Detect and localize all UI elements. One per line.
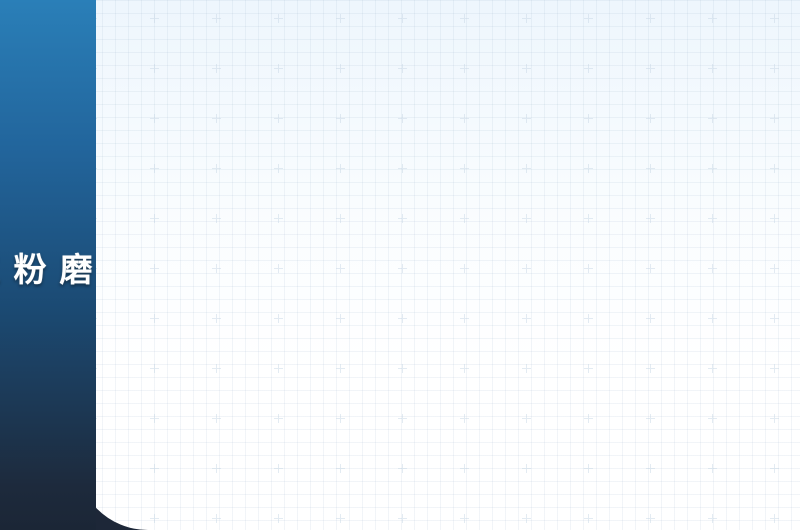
grid-plus-mark <box>584 514 593 523</box>
grid-plus-mark <box>584 264 593 273</box>
grid-plus-mark <box>274 264 283 273</box>
grid-plus-mark <box>336 464 345 473</box>
grid-plus-mark <box>274 214 283 223</box>
grid-plus-mark <box>770 164 779 173</box>
grid-plus-mark <box>398 264 407 273</box>
grid-plus-mark <box>584 14 593 23</box>
grid-plus-mark <box>336 314 345 323</box>
grid-plus-mark <box>708 14 717 23</box>
grid-plus-mark <box>708 514 717 523</box>
grid-plus-mark <box>460 414 469 423</box>
grid-plus-mark <box>336 514 345 523</box>
grid-plus-mark <box>584 414 593 423</box>
grid-plus-mark <box>212 214 221 223</box>
grid-plus-mark <box>584 214 593 223</box>
grid-plus-mark <box>460 114 469 123</box>
sidebar-title-char: 粉 <box>4 104 50 434</box>
grid-plus-mark <box>212 464 221 473</box>
grid-plus-mark <box>336 364 345 373</box>
grid-plus-mark <box>708 164 717 173</box>
grid-plus-mark <box>770 414 779 423</box>
grid-plus-mark <box>398 314 407 323</box>
grid-plus-mark <box>336 64 345 73</box>
grid-plus-mark <box>770 314 779 323</box>
grid-plus-mark <box>460 464 469 473</box>
grid-plus-mark <box>708 64 717 73</box>
grid-plus-mark <box>708 364 717 373</box>
grid-plus-mark <box>212 164 221 173</box>
grid-plus-mark <box>584 114 593 123</box>
grid-plus-mark <box>150 214 159 223</box>
grid-plus-mark <box>708 214 717 223</box>
grid-plus-mark <box>336 164 345 173</box>
grid-plus-mark <box>212 64 221 73</box>
content-panel <box>76 0 800 530</box>
grid-plus-mark <box>398 14 407 23</box>
grid-plus-mark <box>646 414 655 423</box>
grid-plus-mark <box>336 14 345 23</box>
grid-plus-mark <box>522 114 531 123</box>
grid-plus-mark <box>336 264 345 273</box>
grid-plus-mark <box>212 264 221 273</box>
grid-plus-mark <box>646 464 655 473</box>
grid-plus-mark <box>708 264 717 273</box>
grid-plus-mark <box>336 114 345 123</box>
grid-plus-mark <box>646 514 655 523</box>
grid-plus-mark <box>460 164 469 173</box>
grid-plus-mark <box>584 64 593 73</box>
grid-plus-mark <box>460 364 469 373</box>
grid-plus-mark <box>460 214 469 223</box>
grid-plus-mark <box>150 64 159 73</box>
grid-plus-mark <box>770 514 779 523</box>
grid-plus-mark <box>646 64 655 73</box>
grid-plus-mark <box>398 364 407 373</box>
grid-plus-mark <box>150 164 159 173</box>
grid-plus-mark <box>522 464 531 473</box>
grid-plus-mark <box>770 64 779 73</box>
grid-plus-mark <box>460 64 469 73</box>
grid-plus-mark <box>522 414 531 423</box>
sidebar-title: 磨粉工艺流程 <box>0 104 96 434</box>
grid-plus-mark <box>150 314 159 323</box>
grid-plus-mark <box>212 514 221 523</box>
grid-plus-mark <box>150 414 159 423</box>
grid-plus-mark <box>584 364 593 373</box>
grid-plus-mark <box>398 464 407 473</box>
grid-plus-mark <box>708 314 717 323</box>
grid-plus-mark <box>522 14 531 23</box>
grid-plus-mark <box>646 314 655 323</box>
grid-plus-mark <box>522 214 531 223</box>
grid-plus-mark <box>770 114 779 123</box>
sidebar-title-char: 磨 <box>50 104 96 434</box>
grid-plus-mark <box>398 164 407 173</box>
grid-plus-mark <box>398 214 407 223</box>
grid-plus-mark <box>708 464 717 473</box>
grid-plus-mark <box>646 364 655 373</box>
grid-plus-mark <box>646 264 655 273</box>
grid-plus-mark <box>708 414 717 423</box>
grid-plus-mark <box>398 514 407 523</box>
grid-plus-mark <box>212 414 221 423</box>
grid-plus-mark <box>274 464 283 473</box>
background-plus-marks <box>76 0 800 530</box>
grid-plus-mark <box>522 164 531 173</box>
grid-plus-mark <box>460 14 469 23</box>
grid-plus-mark <box>460 314 469 323</box>
grid-plus-mark <box>522 364 531 373</box>
grid-plus-mark <box>274 164 283 173</box>
grid-plus-mark <box>522 514 531 523</box>
grid-plus-mark <box>274 414 283 423</box>
grid-plus-mark <box>274 114 283 123</box>
grid-plus-mark <box>522 64 531 73</box>
grid-plus-mark <box>150 364 159 373</box>
grid-plus-mark <box>646 114 655 123</box>
grid-plus-mark <box>770 214 779 223</box>
grid-plus-mark <box>522 314 531 323</box>
grid-plus-mark <box>770 364 779 373</box>
grid-plus-mark <box>212 364 221 373</box>
sidebar: 磨粉工艺流程 <box>0 0 96 530</box>
grid-plus-mark <box>584 464 593 473</box>
grid-plus-mark <box>770 464 779 473</box>
flowchart-canvas: 磨粉工艺流程 物料(石膏) <box>0 0 800 530</box>
grid-plus-mark <box>336 414 345 423</box>
sidebar-title-char: 工 <box>0 104 4 434</box>
grid-plus-mark <box>584 314 593 323</box>
grid-plus-mark <box>398 414 407 423</box>
grid-plus-mark <box>398 64 407 73</box>
grid-plus-mark <box>708 114 717 123</box>
grid-plus-mark <box>212 314 221 323</box>
grid-plus-mark <box>336 214 345 223</box>
grid-plus-mark <box>398 114 407 123</box>
grid-plus-mark <box>646 214 655 223</box>
grid-plus-mark <box>770 264 779 273</box>
grid-plus-mark <box>212 14 221 23</box>
grid-plus-mark <box>646 14 655 23</box>
grid-plus-mark <box>150 514 159 523</box>
grid-plus-mark <box>646 164 655 173</box>
grid-plus-mark <box>274 364 283 373</box>
grid-plus-mark <box>274 14 283 23</box>
grid-plus-mark <box>150 114 159 123</box>
grid-plus-mark <box>274 64 283 73</box>
grid-plus-mark <box>150 464 159 473</box>
grid-plus-mark <box>460 514 469 523</box>
grid-plus-mark <box>150 14 159 23</box>
grid-plus-mark <box>460 264 469 273</box>
grid-plus-mark <box>584 164 593 173</box>
grid-plus-mark <box>522 264 531 273</box>
grid-plus-mark <box>274 514 283 523</box>
grid-plus-mark <box>274 314 283 323</box>
grid-plus-mark <box>212 114 221 123</box>
grid-plus-mark <box>770 14 779 23</box>
grid-plus-mark <box>150 264 159 273</box>
